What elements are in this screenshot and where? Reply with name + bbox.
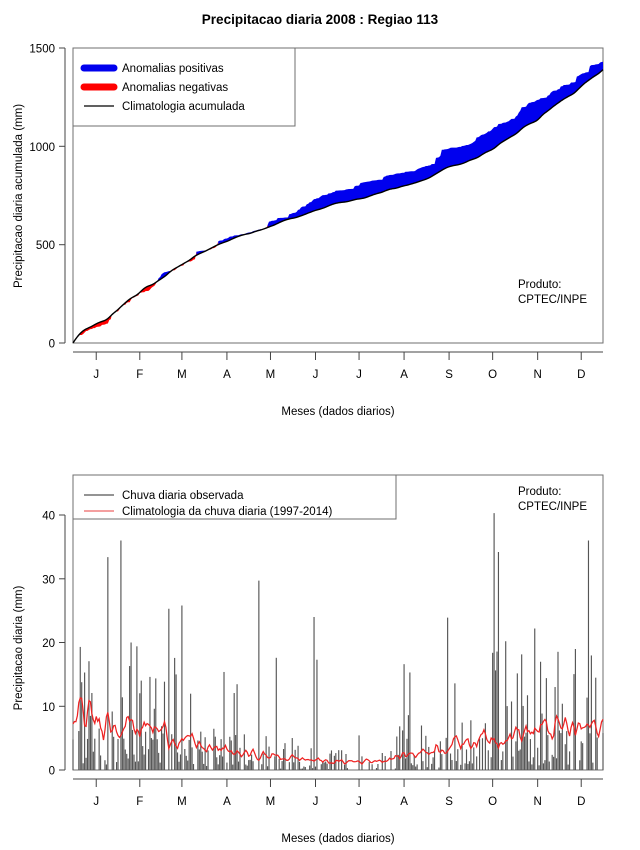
- daily-xtick-label-8: S: [445, 796, 453, 808]
- accumulated-xtick-label-5: J: [313, 369, 319, 381]
- daily-produto-annotation: Produto: CPTEC/INPE: [518, 486, 587, 513]
- accumulated-xtick-label-8: S: [445, 369, 453, 381]
- precipitation-figure: Precipitacao diaria 2008 : Regiao 113 15…: [0, 0, 640, 850]
- daily-ytick-label-20: 20: [42, 638, 55, 650]
- daily-xtick-label-1: F: [136, 796, 143, 808]
- accumulated-legend: Anomalias positivas Anomalias negativas …: [73, 48, 295, 126]
- daily-xtick-label-4: M: [266, 796, 276, 808]
- daily-xtick-label-2: M: [177, 796, 187, 808]
- accumulated-ytick-label-0: 0: [49, 339, 55, 351]
- daily-xtick-label-10: N: [534, 796, 542, 808]
- page-title: Precipitacao diaria 2008 : Regiao 113: [202, 12, 439, 27]
- accumulated-xtick-label-4: M: [266, 369, 276, 381]
- accumulated-produto-annotation: Produto: CPTEC/INPE: [518, 279, 587, 306]
- accumulated-produto-line-2: CPTEC/INPE: [518, 294, 587, 306]
- accumulated-xtick-label-3: A: [223, 369, 231, 381]
- daily-xtick-label-0: J: [93, 796, 99, 808]
- accumulated-xtick-label-2: M: [177, 369, 187, 381]
- daily-y-axis: 40 30 20 10 0: [42, 511, 65, 778]
- daily-produto-line-2: CPTEC/INPE: [518, 501, 587, 513]
- accumulated-y-axis-title: Precipitacao diaria acumulada (mm): [13, 104, 25, 288]
- accumulated-x-axis-title: Meses (dados diarios): [281, 406, 394, 418]
- daily-x-axis-title: Meses (dados diarios): [281, 833, 394, 845]
- daily-xtick-label-11: D: [577, 796, 585, 808]
- daily-xtick-label-7: A: [400, 796, 408, 808]
- accumulated-xtick-label-7: A: [400, 369, 408, 381]
- legend-label-climatologia-chuva-diaria: Climatologia da chuva diaria (1997-2014): [122, 506, 332, 518]
- daily-produto-line-1: Produto:: [518, 486, 561, 498]
- accumulated-produto-line-1: Produto:: [518, 279, 561, 291]
- accumulated-x-axis: JFMAMJJASOND: [73, 352, 603, 381]
- accumulated-xtick-label-1: F: [136, 369, 143, 381]
- accumulated-y-axis: 1500 1000 500 0: [29, 44, 65, 351]
- accumulated-xtick-label-10: N: [534, 369, 542, 381]
- daily-xtick-label-5: J: [313, 796, 319, 808]
- daily-xtick-label-3: A: [223, 796, 231, 808]
- accumulated-ytick-label-1500: 1500: [29, 44, 55, 56]
- daily-y-axis-title: Precipitacao diaria (mm): [13, 586, 25, 711]
- accumulated-xtick-label-0: J: [93, 369, 99, 381]
- accumulated-ytick-label-1000: 1000: [29, 142, 55, 154]
- legend-label-anomalias-positivas: Anomalias positivas: [122, 63, 224, 75]
- daily-xtick-label-9: O: [488, 796, 497, 808]
- daily-legend: Chuva diaria observada Climatologia da c…: [73, 475, 396, 519]
- daily-ytick-label-0: 0: [49, 766, 55, 778]
- daily-ytick-label-30: 30: [42, 574, 55, 586]
- daily-x-axis: JFMAMJJASOND: [73, 779, 603, 808]
- legend-label-anomalias-negativas: Anomalias negativas: [122, 82, 228, 94]
- legend-item-climatologia-chuva-diaria[interactable]: Climatologia da chuva diaria (1997-2014): [84, 506, 332, 518]
- daily-chart: 40 30 20 10 0 Precipitacao diaria (mm) J…: [13, 475, 603, 845]
- daily-ytick-label-40: 40: [42, 511, 55, 523]
- accumulated-xtick-label-6: J: [356, 369, 362, 381]
- daily-series-group: [73, 513, 603, 770]
- daily-ytick-label-10: 10: [42, 702, 55, 714]
- accumulated-xtick-label-9: O: [488, 369, 497, 381]
- daily-xtick-label-6: J: [356, 796, 362, 808]
- positive-anomaly-band: [268, 62, 603, 228]
- figure-svg: Precipitacao diaria 2008 : Regiao 113 15…: [0, 0, 640, 850]
- accumulated-ytick-label-500: 500: [36, 240, 55, 252]
- accumulated-chart: Precipitacao diaria 2008 : Regiao 113 15…: [13, 12, 603, 418]
- legend-label-climatologia-acumulada: Climatologia acumulada: [122, 101, 245, 113]
- legend-label-chuva-diaria-observada: Chuva diaria observada: [122, 490, 244, 502]
- accumulated-xtick-label-11: D: [577, 369, 585, 381]
